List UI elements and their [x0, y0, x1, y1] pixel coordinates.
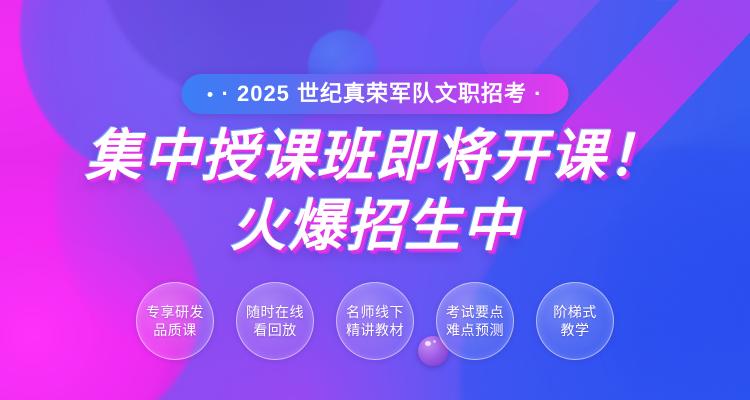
badge-line-1: 专享研发 — [146, 304, 204, 320]
badge-line-2: 精讲教材 — [346, 322, 404, 338]
feature-badge[interactable]: 随时在线 看回放 — [236, 282, 314, 360]
badge-line-1: 考试要点 — [446, 304, 504, 320]
badge-line-1: 随时在线 — [246, 304, 304, 320]
badge-line-2: 教学 — [561, 322, 590, 338]
badge-line-2: 看回放 — [253, 322, 297, 338]
promo-banner: · 2025 世纪真荣军队文职招考 · 集中授课班即将开课！ 火爆招生中 专享研… — [0, 0, 750, 400]
feature-badge[interactable]: 名师线下 精讲教材 — [336, 282, 414, 360]
badge-line-2: 品质课 — [153, 322, 197, 338]
pill-dot-left-icon — [208, 92, 213, 97]
banner-content: · 2025 世纪真荣军队文职招考 · 集中授课班即将开课！ 火爆招生中 专享研… — [0, 0, 750, 400]
badge-line-2: 难点预测 — [446, 322, 504, 338]
feature-badge[interactable]: 阶梯式 教学 — [536, 282, 614, 360]
badge-line-1: 名师线下 — [346, 304, 404, 320]
feature-badge-row: 专享研发 品质课 随时在线 看回放 名师线下 精讲教材 考试要点 难点预测 阶梯… — [0, 282, 750, 360]
event-title-pill: · 2025 世纪真荣军队文职招考 · — [182, 74, 569, 114]
badge-line-1: 阶梯式 — [553, 304, 597, 320]
feature-badge[interactable]: 专享研发 品质课 — [136, 282, 214, 360]
pill-title-text: · 2025 世纪真荣军队文职招考 · — [222, 83, 543, 105]
headline-secondary: 火爆招生中 — [0, 198, 750, 254]
headline-primary: 集中授课班即将开课！ — [0, 128, 750, 184]
feature-badge[interactable]: 考试要点 难点预测 — [436, 282, 514, 360]
